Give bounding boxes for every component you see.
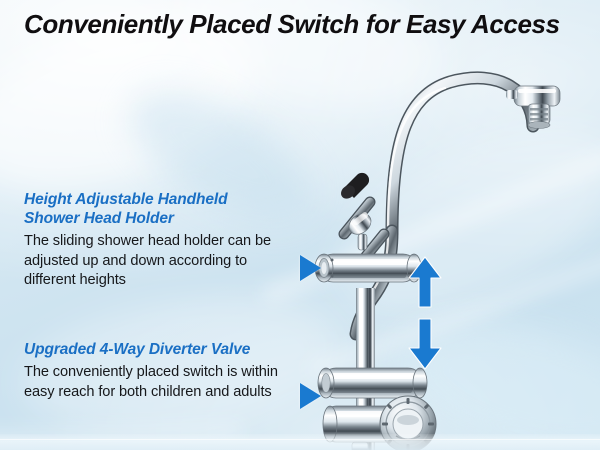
triangle-right-icon <box>300 383 321 409</box>
page-title: Conveniently Placed Switch for Easy Acce… <box>24 9 560 40</box>
diverter-dial <box>380 396 436 450</box>
triangle-right-icon <box>300 255 321 281</box>
callout-heading: Upgraded 4-Way Diverter Valve <box>24 340 292 359</box>
callout-four-way-diverter-valve: Upgraded 4-Way Diverter Valve The conven… <box>24 340 292 402</box>
angled-shower-arm-joint <box>338 173 384 266</box>
background-streak <box>0 425 240 445</box>
callout-height-adjustable-holder: Height Adjustable Handheld Shower Head H… <box>24 190 286 291</box>
callout-body: The conveniently placed switch is within… <box>24 363 292 402</box>
four-way-diverter-valve <box>318 368 436 450</box>
arrow-down-icon <box>408 318 442 375</box>
spout-outlet-head <box>506 86 560 129</box>
callout-heading: Height Adjustable Handheld Shower Head H… <box>24 190 286 228</box>
infographic-canvas: Conveniently Placed Switch for Easy Acce… <box>0 0 600 450</box>
arrow-up-icon <box>408 256 442 313</box>
sliding-handheld-holder <box>315 254 421 282</box>
product-image-chrome-shower-column <box>300 38 600 450</box>
callout-body: The sliding shower head holder can be ad… <box>24 232 286 291</box>
